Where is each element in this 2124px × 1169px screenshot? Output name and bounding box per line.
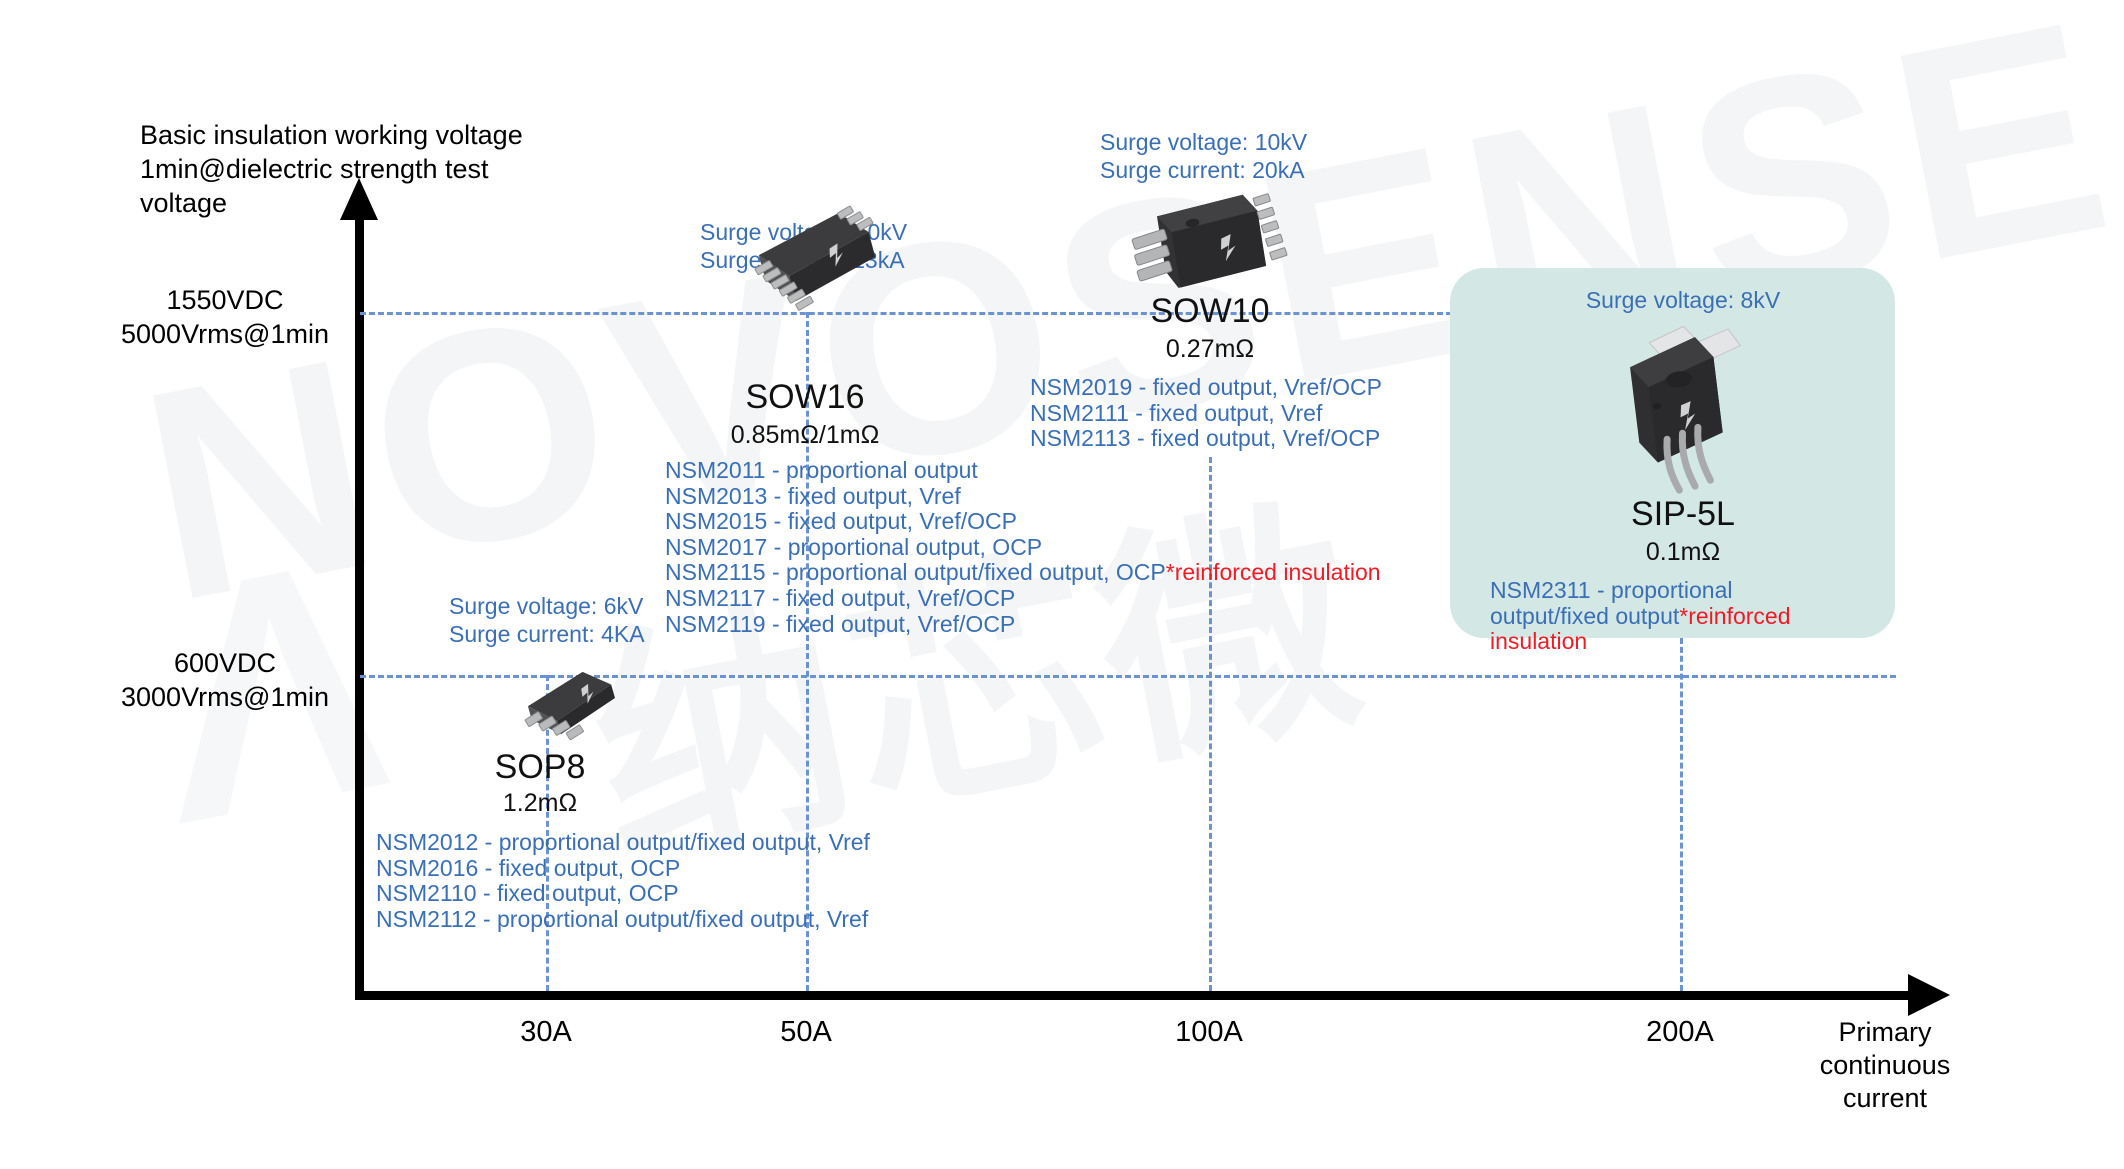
list-item: NSM2119 - fixed output, Vref/OCP [665, 612, 1381, 638]
sip5l-package-name: SIP-5L [1583, 495, 1783, 534]
sow10-package-image [1110, 180, 1290, 310]
y-axis-line [355, 210, 364, 1000]
y-tick-label-600vdc: 600VDC 3000Vrms@1min [100, 646, 350, 714]
list-item: NSM2012 - proportional output/fixed outp… [376, 830, 870, 856]
list-item: NSM2113 - fixed output, Vref/OCP [1030, 426, 1382, 452]
sip5l-package-image [1585, 310, 1765, 500]
sow16-package-image [715, 205, 900, 325]
sip5l-resistance: 0.1mΩ [1583, 538, 1783, 567]
sow10-surge-spec: Surge voltage: 10kV Surge current: 20kA [1100, 128, 1307, 184]
sop8-surge-spec: Surge voltage: 6kV Surge current: 4KA [449, 592, 645, 648]
list-item: NSM2110 - fixed output, OCP [376, 881, 870, 907]
sop8-package-name: SOP8 [440, 748, 640, 787]
sow16-resistance: 0.85mΩ/1mΩ [700, 421, 910, 450]
list-item: NSM2015 - fixed output, Vref/OCP [665, 509, 1381, 535]
x-tick-label-30a: 30A [476, 1016, 616, 1049]
list-item: NSM2011 - proportional output [665, 458, 1381, 484]
part-text: NSM2115 - proportional output/fixed outp… [665, 559, 1166, 585]
part-text-line2: output [1615, 603, 1679, 629]
list-item: NSM2311 - proportional output/fixed outp… [1490, 578, 1850, 655]
x-tick-label-200a: 200A [1610, 1016, 1750, 1049]
sow16-part-list: NSM2011 - proportional output NSM2013 - … [665, 458, 1381, 637]
x-axis-arrowhead-icon [1908, 974, 1950, 1016]
sow10-package-name: SOW10 [1105, 292, 1315, 331]
list-item: NSM2017 - proportional output, OCP [665, 535, 1381, 561]
sow16-package-name: SOW16 [700, 378, 910, 417]
sip5l-part-list: NSM2311 - proportional output/fixed outp… [1490, 578, 1850, 655]
y-tick-label-1550vdc: 1550VDC 5000Vrms@1min [100, 283, 350, 351]
sow10-part-list: NSM2019 - fixed output, Vref/OCP NSM2111… [1030, 375, 1382, 452]
x-tick-label-100a: 100A [1139, 1016, 1279, 1049]
sow10-resistance: 0.27mΩ [1105, 335, 1315, 364]
x-axis-line [355, 991, 1915, 1000]
list-item: NSM2115 - proportional output/fixed outp… [665, 560, 1381, 586]
list-item: NSM2013 - fixed output, Vref [665, 484, 1381, 510]
list-item: NSM2016 - fixed output, OCP [376, 856, 870, 882]
diagram-canvas: Λ NOVOSENSE 纳芯微 Basic insulation working… [0, 0, 2124, 1169]
x-tick-label-50a: 50A [736, 1016, 876, 1049]
x-axis-title: Primary continuous current [1770, 1016, 2000, 1115]
list-item: NSM2019 - fixed output, Vref/OCP [1030, 375, 1382, 401]
y-axis-title: Basic insulation working voltage 1min@di… [140, 118, 580, 220]
sop8-package-image [495, 650, 635, 760]
list-item: NSM2112 - proportional output/fixed outp… [376, 907, 870, 933]
list-item: NSM2111 - fixed output, Vref [1030, 401, 1382, 427]
sop8-resistance: 1.2mΩ [440, 789, 640, 818]
reinforced-insulation-note: *reinforced insulation [1166, 559, 1381, 585]
list-item: NSM2117 - fixed output, Vref/OCP [665, 586, 1381, 612]
gridline-200a [1680, 638, 1683, 991]
sop8-part-list: NSM2012 - proportional output/fixed outp… [376, 830, 870, 932]
